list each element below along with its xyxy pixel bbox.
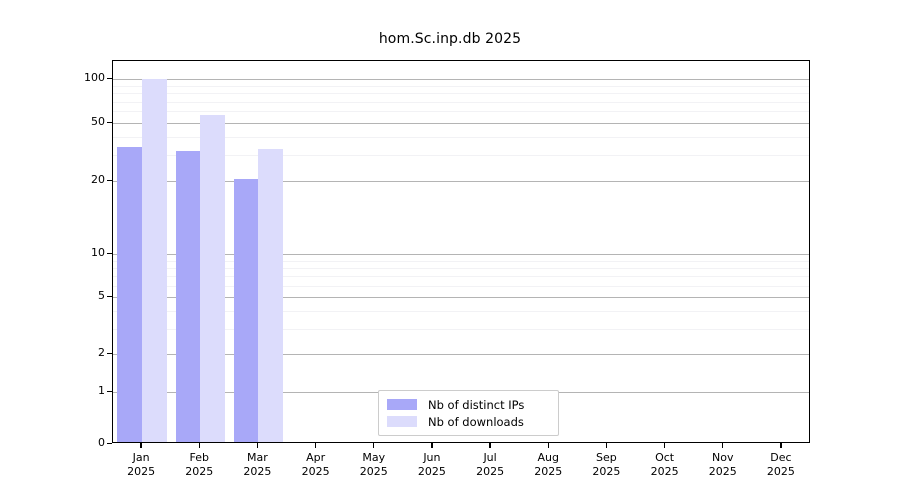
bar-downloads[interactable] [142,79,167,442]
x-axis-tick-label: Apr2025 [302,451,330,479]
x-axis-tick-mark [780,443,781,448]
legend-label: Nb of distinct IPs [428,398,524,412]
x-axis-tick-mark [606,443,607,448]
x-axis-tick-label: Sep2025 [592,451,620,479]
x-axis-tick-month: Nov [709,451,737,465]
x-axis-tick-year: 2025 [185,465,213,479]
x-axis-tick-month: Dec [767,451,795,465]
y-axis-tick-mark [107,253,112,254]
x-axis-tick-year: 2025 [592,465,620,479]
bar-downloads[interactable] [200,115,225,442]
x-axis-tick-mark [315,443,316,448]
x-axis-tick-mark [257,443,258,448]
legend-item[interactable]: Nb of distinct IPs [387,396,550,413]
x-axis-tick-month: Sep [592,451,620,465]
x-axis-tick-mark [664,443,665,448]
x-axis-tick-year: 2025 [302,465,330,479]
y-axis-tick-label: 100 [84,72,105,83]
y-axis-tick-mark [107,296,112,297]
x-axis-tick-label: Feb2025 [185,451,213,479]
x-axis-tick-mark [199,443,200,448]
y-axis-tick-mark [107,78,112,79]
bars-layer [113,61,809,442]
y-axis-tick-label: 20 [91,174,105,185]
x-axis-tick-label: May2025 [360,451,388,479]
x-axis-tick-month: Aug [534,451,562,465]
x-axis-tick-mark [489,443,490,448]
y-axis-tick-mark [107,180,112,181]
bar-distinct-ips[interactable] [176,151,201,442]
x-axis-tick-month: Jun [418,451,446,465]
x-axis-tick-year: 2025 [127,465,155,479]
x-axis-tick-label: Mar2025 [243,451,271,479]
x-axis-tick-year: 2025 [243,465,271,479]
legend-label: Nb of downloads [428,415,524,429]
y-axis-tick-mark [107,122,112,123]
x-axis-tick-mark [548,443,549,448]
bar-distinct-ips[interactable] [117,147,142,442]
y-axis-tick-label: 0 [98,437,105,448]
x-axis-tick-month: May [360,451,388,465]
y-axis-tick-mark [107,443,112,444]
chart-figure: hom.Sc.inp.db 2025 0125102050100 Jan2025… [0,0,900,500]
bar-downloads[interactable] [258,149,283,442]
x-axis-tick-label: Jul2025 [476,451,504,479]
legend-swatch-icon [387,399,417,410]
bar-distinct-ips[interactable] [234,179,259,442]
x-axis-tick-label: Nov2025 [709,451,737,479]
y-axis-tick-mark [107,353,112,354]
x-axis-tick-year: 2025 [767,465,795,479]
x-axis-tick-label: Aug2025 [534,451,562,479]
x-axis-tick-mark [373,443,374,448]
x-axis-tick-year: 2025 [360,465,388,479]
x-axis-tick-mark [140,443,141,448]
x-axis-tick-year: 2025 [709,465,737,479]
x-axis-tick-year: 2025 [534,465,562,479]
x-axis-tick-month: Apr [302,451,330,465]
chart-legend: Nb of distinct IPsNb of downloads [378,390,559,436]
x-axis-tick-year: 2025 [651,465,679,479]
y-axis-tick-label: 1 [98,385,105,396]
plot-area [112,60,810,443]
x-axis-tick-month: Oct [651,451,679,465]
x-axis-tick-label: Jun2025 [418,451,446,479]
y-axis-tick-label: 10 [91,247,105,258]
x-axis-tick-month: Jan [127,451,155,465]
y-axis-tick-label: 2 [98,347,105,358]
x-axis-tick-mark [431,443,432,448]
y-axis-tick-mark [107,391,112,392]
x-axis-tick-label: Oct2025 [651,451,679,479]
y-axis-tick-labels: 0125102050100 [60,0,105,500]
legend-swatch-icon [387,416,417,427]
x-axis-tick-year: 2025 [476,465,504,479]
legend-item[interactable]: Nb of downloads [387,413,550,430]
x-axis-tick-mark [722,443,723,448]
x-axis-tick-month: Mar [243,451,271,465]
x-axis-tick-label: Jan2025 [127,451,155,479]
x-axis-tick-year: 2025 [418,465,446,479]
x-axis-tick-month: Jul [476,451,504,465]
x-axis-tick-month: Feb [185,451,213,465]
y-axis-tick-label: 50 [91,116,105,127]
chart-title: hom.Sc.inp.db 2025 [0,31,900,47]
y-axis-tick-label: 5 [98,290,105,301]
x-axis-tick-label: Dec2025 [767,451,795,479]
